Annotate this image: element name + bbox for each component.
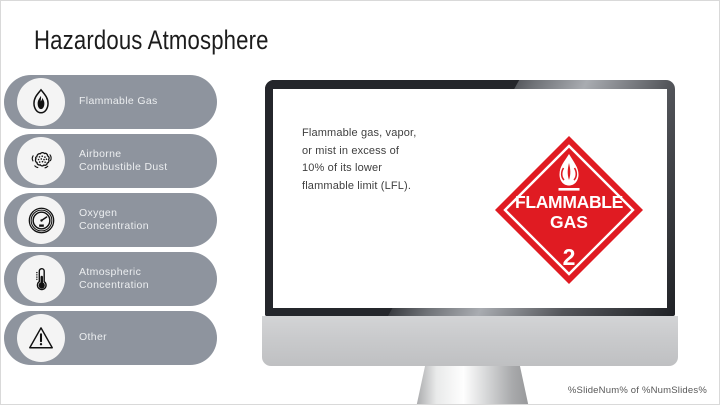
dust-cloud-icon [17,137,65,185]
sidebar-item-label: Flammable Gas [79,95,207,109]
sidebar-item-airborne-combustible-dust[interactable]: Airborne Combustible Dust [4,134,217,188]
sidebar-item-label: Oxygen Concentration [79,207,207,234]
sidebar-item-other[interactable]: Other [4,311,217,365]
monitor-stand [416,366,529,405]
sidebar-item-atmospheric-concentration[interactable]: Atmospheric Concentration [4,252,217,306]
sidebar-item-oxygen-concentration[interactable]: Oxygen Concentration [4,193,217,247]
warning-triangle-icon [17,314,65,362]
monitor-screen: Flammable gas, vapor, or mist in excess … [273,89,667,308]
sidebar-item-label: Airborne Combustible Dust [79,148,207,175]
monitor-chin [262,316,678,366]
sidebar-item-flammable-gas[interactable]: Flammable Gas [4,75,217,129]
page-title: Hazardous Atmosphere [34,25,269,56]
flame-icon [17,78,65,126]
sidebar-item-label: Other [79,331,207,345]
hazard-category-list: Flammable Gas [4,75,217,370]
monitor-illustration: Flammable gas, vapor, or mist in excess … [265,80,675,316]
slide-number-placeholder: %SlideNum% of %NumSlides% [568,385,707,396]
svg-text:2: 2 [563,244,576,270]
sidebar-item-label: Atmospheric Concentration [79,266,207,293]
gauge-icon [17,196,65,244]
thermometer-icon [17,255,65,303]
screen-body-text: Flammable gas, vapor, or mist in excess … [302,125,422,195]
flammable-gas-placard: FLAMMABLE GAS 2 [491,132,647,288]
slide-canvas: Hazardous Atmosphere Flammable Gas [0,0,720,405]
svg-text:FLAMMABLE: FLAMMABLE [515,192,623,212]
svg-text:GAS: GAS [550,212,588,232]
